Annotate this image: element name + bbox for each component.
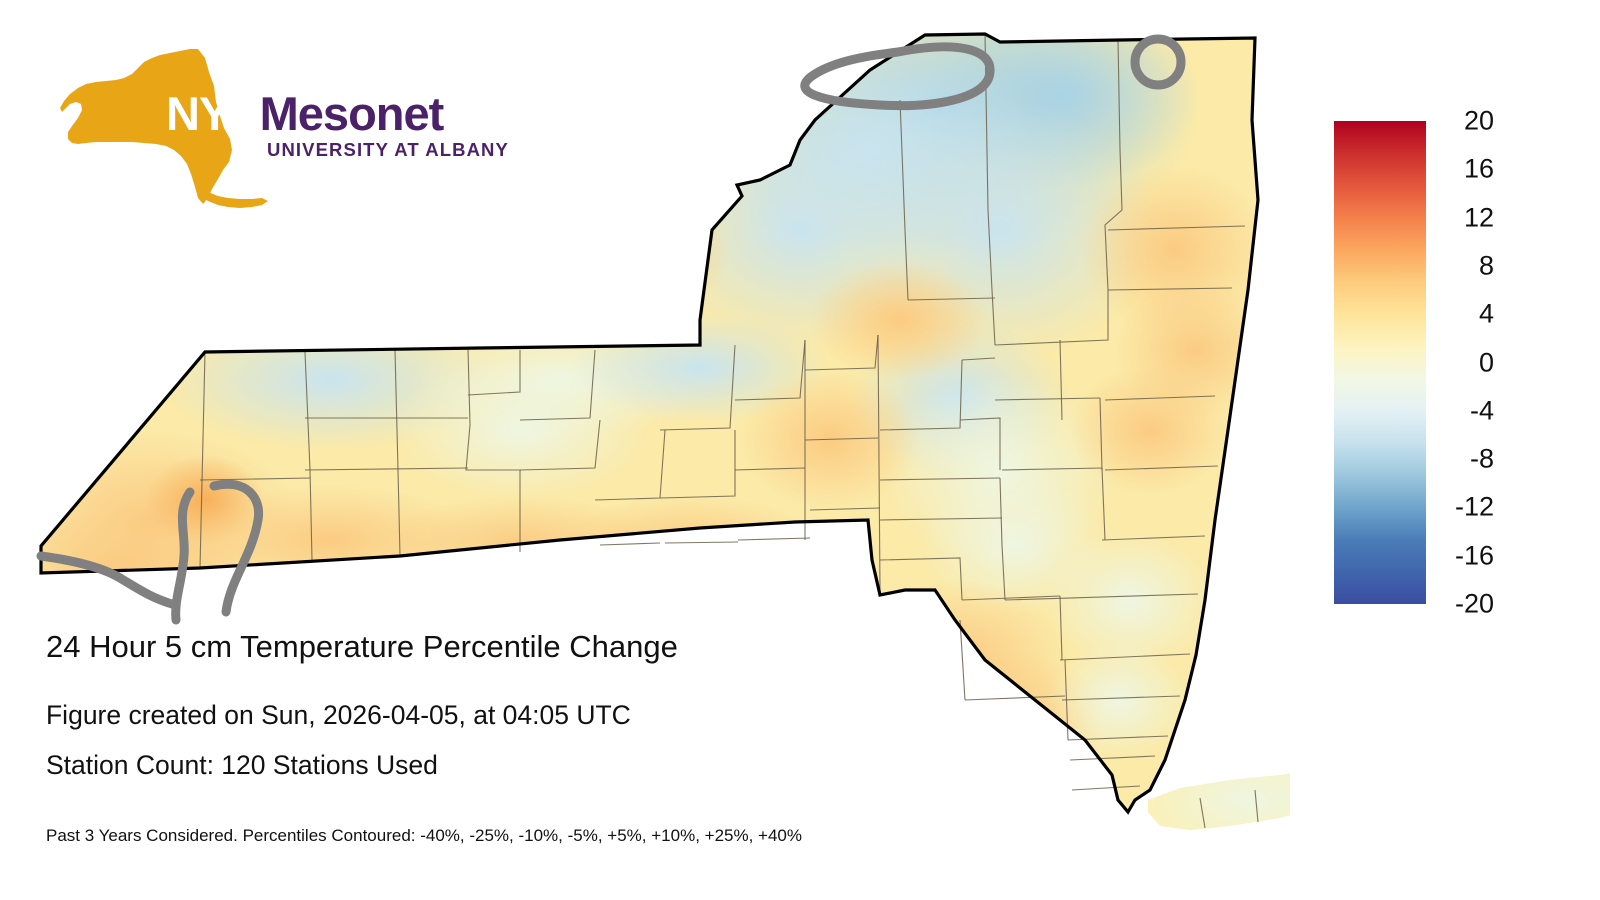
logo-nys-text: NYS (166, 87, 260, 140)
colorbar-tick-neg16: -16 (1455, 540, 1494, 571)
logo-wordmark: NYSMesonet UNIVERSITY AT ALBANY (166, 90, 509, 160)
colorbar-tick-neg4: -4 (1470, 395, 1494, 426)
colorbar-tick-12: 12 (1464, 202, 1494, 233)
colorbar-tick-16: 16 (1464, 154, 1494, 185)
logo-subtitle: UNIVERSITY AT ALBANY (267, 141, 509, 160)
colorbar-tick-8: 8 (1479, 250, 1494, 281)
colorbar-tick-neg20: -20 (1455, 589, 1494, 620)
figure-footnote: Past 3 Years Considered. Percentiles Con… (46, 826, 802, 846)
colorbar-tick-0: 0 (1479, 347, 1494, 378)
colorbar-tick-labels: 20 16 12 8 4 0 -4 -8 -12 -16 -20 (1434, 121, 1494, 604)
colorbar-tick-20: 20 (1464, 106, 1494, 137)
colorbar-tick-4: 4 (1479, 299, 1494, 330)
colorbar-tick-neg8: -8 (1470, 444, 1494, 475)
station-count-label: Station Count: 120 Stations Used (46, 750, 438, 781)
colorbar-tick-neg12: -12 (1455, 492, 1494, 523)
figure-title: 24 Hour 5 cm Temperature Percentile Chan… (46, 629, 678, 665)
nys-mesonet-logo: NYSMesonet UNIVERSITY AT ALBANY (48, 46, 408, 216)
figure-created-timestamp: Figure created on Sun, 2026-04-05, at 04… (46, 700, 631, 731)
colorbar (1334, 121, 1426, 604)
figure-root: NYSMesonet UNIVERSITY AT ALBANY (0, 0, 1600, 900)
colorbar-gradient (1334, 121, 1426, 604)
logo-mesonet-text: Mesonet (260, 87, 444, 140)
